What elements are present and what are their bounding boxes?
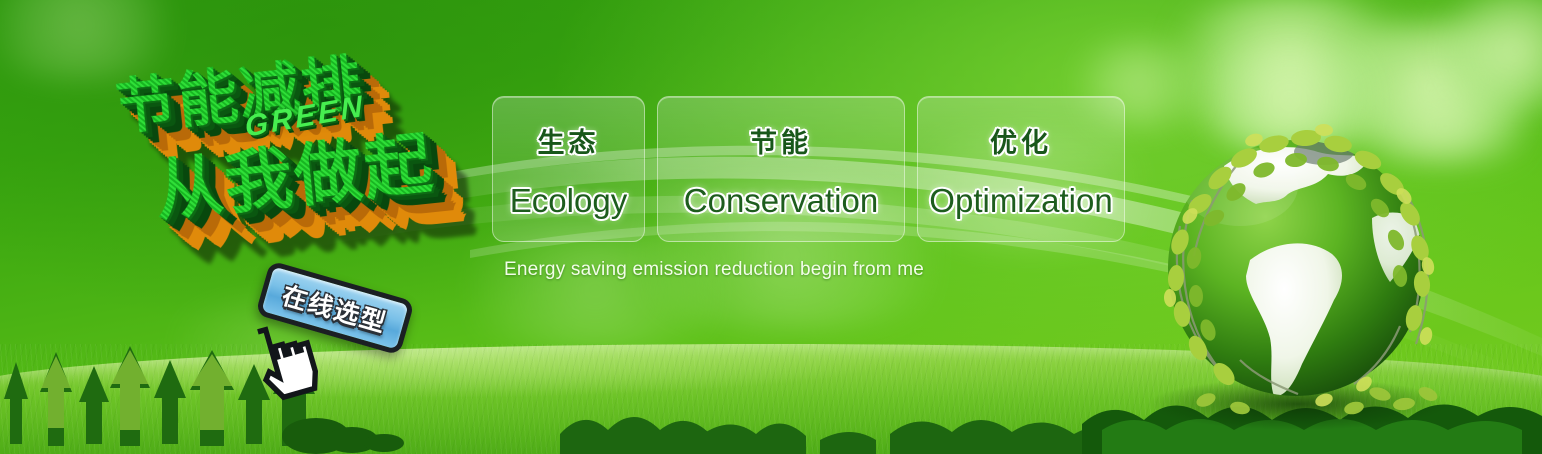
leafy-earth-globe-icon	[1128, 108, 1478, 438]
hand-pointer-icon	[240, 318, 326, 404]
green-energy-banner: 节能减排 GREEN 从我做起 生态 Ecology 节能 Conservati…	[0, 0, 1542, 454]
feature-card-title-en: Ecology	[510, 182, 627, 220]
banner-logo: 节能减排 GREEN 从我做起	[97, 18, 519, 289]
feature-card-title-cn: 优化	[990, 121, 1052, 160]
cta-area: 在线选型	[252, 272, 432, 392]
tree-line-center-icon	[560, 394, 1120, 454]
feature-card-title-en: Conservation	[684, 182, 878, 220]
feature-card-conservation[interactable]: 节能 Conservation	[657, 96, 905, 242]
feature-card-group: 生态 Ecology 节能 Conservation 优化 Optimizati…	[492, 96, 1125, 242]
feature-card-optimization[interactable]: 优化 Optimization	[917, 96, 1125, 242]
feature-card-ecology[interactable]: 生态 Ecology	[492, 96, 645, 242]
feature-card-title-cn: 节能	[750, 121, 812, 160]
banner-tagline: Energy saving emission reduction begin f…	[504, 259, 924, 281]
feature-card-title-en: Optimization	[929, 182, 1112, 220]
feature-card-title-cn: 生态	[538, 121, 600, 160]
